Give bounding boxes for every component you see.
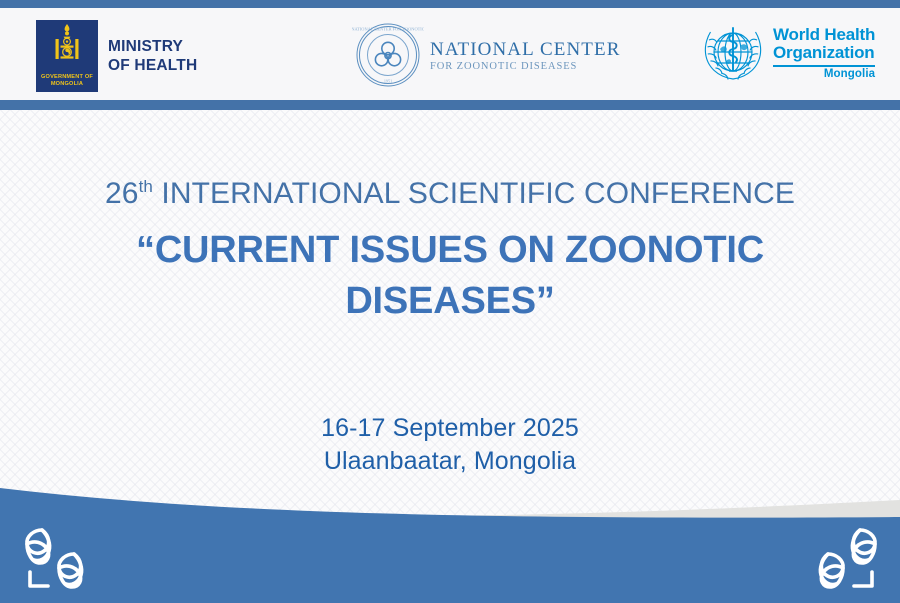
mongolian-ulzii-knot-ornament-icon-left <box>18 522 102 596</box>
footer-wave-blue <box>0 488 900 603</box>
mongolian-ulzii-knot-ornament-icon-right <box>800 522 884 596</box>
footer-wave-decoration <box>0 0 900 603</box>
conference-title-slide: GOVERNMENT OF MONGOLIA MINISTRY OF HEALT… <box>0 0 900 603</box>
